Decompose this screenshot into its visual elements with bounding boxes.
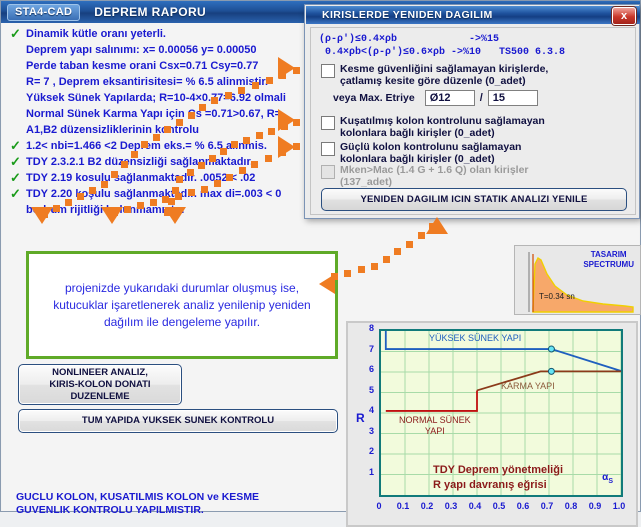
report-line: TDY 2.19 kosulu sağlanmaktadır. .0052 < …: [26, 172, 255, 184]
annotation-dash: [164, 209, 171, 216]
chart-x-tick: 0.3: [439, 501, 463, 511]
tasarim-spectrumu-chart: TASARIMSPECTRUMU T=0.34 sn: [514, 245, 641, 315]
chart-plot-area: YÜKSEK SÜNEK YAPIKARMA YAPINORMAL SÜNEKY…: [379, 329, 623, 497]
annotation-dash: [220, 148, 227, 155]
checkbox-guclu-kolon-label: Güçlü kolon kontrolunu sağlamayankolonla…: [340, 141, 521, 165]
dialog-title-text: KIRISLERDE YENIDEN DAGILIM: [322, 9, 493, 21]
checkbox-row-kusatilmis-kolon[interactable]: Kuşatılmış kolon kontrolunu sağlamayanko…: [321, 115, 621, 139]
report-line: Yüksek Sünek Yapılarda; R=10-4×0.77=6.92…: [26, 92, 286, 104]
annotation-dash: [293, 67, 300, 74]
annotation-dash: [101, 181, 108, 188]
annotation-dash: [187, 169, 194, 176]
checkbox-row-kesme-guvenligi[interactable]: Kesme güvenliğini sağlamayan kirişlerde,…: [321, 63, 621, 87]
annotation-dash: [429, 223, 436, 230]
annotation-dash: [153, 134, 160, 141]
chart-y-tick: 7: [358, 344, 374, 354]
annotation-dash: [243, 137, 250, 144]
annotation-dash: [201, 186, 208, 193]
annotation-dash: [77, 193, 84, 200]
annotation-dash: [124, 206, 131, 213]
report-line: Dinamik kütle oranı yeterli.: [26, 28, 166, 40]
annotation-dash: [121, 161, 128, 168]
yeniden-dagilim-dialog: KIRISLERDE YENIDEN DAGILIM x (ρ-ρ')≤0.4×…: [304, 4, 640, 219]
formula-line-2: 0.4×ρb<(ρ-ρ')≤0.6×ρb ->%10 TS500 6.3.8: [319, 47, 565, 58]
dialog-body: (ρ-ρ')≤0.4×ρb ->%15 0.4×ρb<(ρ-ρ')≤0.6×ρb…: [310, 27, 636, 215]
application-window: STA4-CAD DEPREM RAPORU ✓Dinamik kütle or…: [0, 0, 641, 512]
tum-yapida-yuksek-sunek-kontrolu-label: TUM YAPIDA YUKSEK SUNEK KONTROLU: [82, 415, 274, 427]
chart-data-point: [548, 368, 554, 374]
spectrum-title: TASARIMSPECTRUMU: [583, 250, 634, 270]
annotation-dash: [176, 119, 183, 126]
annotation-dash: [162, 196, 169, 203]
annotation-dash: [279, 149, 286, 156]
annotation-dash: [406, 241, 413, 248]
checkbox-kusatilmis-kolon-label: Kuşatılmış kolon kontrolunu sağlamayanko…: [340, 115, 545, 139]
chart-y-tick: 6: [358, 364, 374, 374]
check-icon: ✓: [10, 29, 21, 39]
chart-x-tick: 0.8: [559, 501, 583, 511]
checkbox-kesme-guvenligi[interactable]: [321, 64, 335, 78]
report-line: TDY 2.3.2.1 B2 düzensizliği sağlanmaktad…: [26, 156, 253, 168]
annotation-dash: [199, 104, 206, 111]
chart-series-line: [386, 390, 477, 411]
annotation-dash: [188, 189, 195, 196]
annotation-dash: [150, 199, 157, 206]
report-line: R= 7 , Deprem eksantirisitesi= % 6.5 ali…: [26, 76, 268, 88]
chart-series-label: KARMA YAPI: [501, 381, 555, 392]
window-title: DEPREM RAPORU: [94, 5, 206, 19]
annotation-dash: [371, 263, 378, 270]
chart-x-tick: 1.0: [607, 501, 631, 511]
annotation-dash: [238, 87, 245, 94]
check-icon: ✓: [10, 157, 21, 167]
dialog-titlebar: KIRISLERDE YENIDEN DAGILIM: [306, 6, 640, 24]
chart-x-tick: 0.6: [511, 501, 535, 511]
annotation-dash: [358, 266, 365, 273]
annotation-dash: [111, 209, 118, 216]
annotation-dash: [176, 176, 183, 183]
annotation-dash: [89, 187, 96, 194]
annotation-dash: [266, 77, 273, 84]
callout-box: projenizde yukarıdaki durumlar oluşmuş i…: [26, 251, 338, 359]
annotation-dash: [175, 193, 182, 200]
annotation-dash: [41, 211, 48, 218]
annotation-dash: [65, 199, 72, 206]
callout-text: projenizde yukarıdaki durumlar oluşmuş i…: [29, 280, 335, 331]
r-behaviour-chart-panel: R YÜKSEK SÜNEK YAPIKARMA YAPINORMAL SÜNE…: [346, 321, 638, 527]
chart-y-tick: 5: [358, 385, 374, 395]
annotation-dash: [188, 112, 195, 119]
annotation-dash: [225, 92, 232, 99]
chart-x-tick: 0.9: [583, 501, 607, 511]
annotation-dash: [211, 97, 218, 104]
check-icon: ✓: [10, 173, 21, 183]
annotation-dash: [251, 161, 258, 168]
chart-x-tick: 0.7: [535, 501, 559, 511]
annotation-dash: [293, 119, 300, 126]
checkbox-kusatilmis-kolon[interactable]: [321, 116, 335, 130]
report-line: A1,B2 düzensizliklerinin kontrolu: [26, 124, 199, 136]
chart-x-tick: 0.2: [415, 501, 439, 511]
annotation-dash: [394, 248, 401, 255]
chart-y-tick: 3: [358, 426, 374, 436]
etriye-row: veya Max. Etriye Ø12 / 15: [333, 90, 538, 106]
checkbox-row-guclu-kolon[interactable]: Güçlü kolon kontrolunu sağlamayankolonla…: [321, 141, 621, 165]
chart-x-tick: 0.1: [391, 501, 415, 511]
annotation-dash: [383, 256, 390, 263]
app-logo-badge: STA4-CAD: [7, 4, 80, 21]
annotation-dash: [331, 273, 338, 280]
annotation-dash: [252, 82, 259, 89]
annotation-dash: [141, 141, 148, 148]
etriye-spacing-input[interactable]: 15: [488, 90, 538, 106]
etriye-diameter-input[interactable]: Ø12: [425, 90, 475, 106]
report-line: Perde taban kesme orani Csx=0.71 Csy=0.7…: [26, 60, 258, 72]
annotation-dash: [131, 151, 138, 158]
chart-y-tick: 4: [358, 405, 374, 415]
annotation-dash: [281, 123, 288, 130]
annotation-dash: [256, 132, 263, 139]
report-line: Normal Sünek Karma Yapı için Cs =0.71>0.…: [26, 108, 281, 120]
formula-line-1: (ρ-ρ')≤0.4×ρb ->%15: [319, 34, 499, 45]
chart-y-tick: 8: [358, 323, 374, 333]
check-icon: ✓: [10, 189, 21, 199]
chart-series-label: NORMAL SÜNEKYAPI: [399, 415, 471, 437]
checkbox-mken-mac: [321, 165, 335, 179]
nonlineer-analiz-label: NONLINEER ANALIZ,KIRIS-KOLON DONATIDUZEN…: [49, 367, 150, 403]
chart-caption: TDY Deprem yönetmeliğiR yapı davranış eğ…: [433, 463, 563, 493]
chart-x-axis-label: αS: [602, 472, 613, 485]
etriye-separator: /: [480, 92, 483, 104]
annotation-dash: [418, 232, 425, 239]
annotation-dash: [279, 72, 286, 79]
annotation-dash: [164, 126, 171, 133]
annotation-dash: [198, 162, 205, 169]
checkbox-kesme-guvenligi-label: Kesme güvenliğini sağlamayan kirişlerde,…: [340, 63, 548, 87]
annotation-dash: [214, 180, 221, 187]
annotation-dash: [344, 270, 351, 277]
statik-analizi-yenile-button[interactable]: YENIDEN DAGILIM ICIN STATIK ANALIZI YENI…: [321, 188, 627, 211]
checkbox-guclu-kolon[interactable]: [321, 142, 335, 156]
close-icon[interactable]: x: [612, 7, 636, 25]
annotation-dash: [265, 155, 272, 162]
chart-x-tick: 0.4: [463, 501, 487, 511]
check-icon: ✓: [10, 141, 21, 151]
chart-series-label: YÜKSEK SÜNEK YAPI: [429, 333, 521, 344]
annotation-dash: [209, 155, 216, 162]
annotation-dash: [293, 143, 300, 150]
etriye-label: veya Max. Etriye: [333, 92, 415, 104]
chart-x-tick: 0.5: [487, 501, 511, 511]
annotation-dash: [53, 205, 60, 212]
chart-y-tick: 1: [358, 467, 374, 477]
chart-data-point: [548, 346, 554, 352]
annotation-dash: [226, 174, 233, 181]
annotation-dash: [268, 128, 275, 135]
checkbox-mken-mac-label: Mken>Mac (1.4 G + 1.6 Q) olan kirişler(1…: [340, 164, 529, 188]
checkbox-row-mken-mac: Mken>Mac (1.4 G + 1.6 Q) olan kirişler(1…: [321, 164, 621, 188]
status-note: GUCLU KOLON, KUSATILMIS KOLON ve KESMEGU…: [16, 491, 346, 517]
chart-y-tick: 2: [358, 446, 374, 456]
chart-x-tick: 0: [367, 501, 391, 511]
annotation-dash: [239, 167, 246, 174]
annotation-dash: [231, 141, 238, 148]
tum-yapida-yuksek-sunek-kontrolu-button[interactable]: TUM YAPIDA YUKSEK SUNEK KONTROLU: [18, 409, 338, 433]
report-line: Deprem yapı salınımı: x= 0.00056 y= 0.00…: [26, 44, 257, 56]
annotation-dash: [111, 171, 118, 178]
nonlineer-analiz-button[interactable]: NONLINEER ANALIZ,KIRIS-KOLON DONATIDUZEN…: [18, 364, 182, 405]
annotation-dash: [137, 202, 144, 209]
spectrum-period-label: T=0.34 sn: [539, 292, 575, 301]
